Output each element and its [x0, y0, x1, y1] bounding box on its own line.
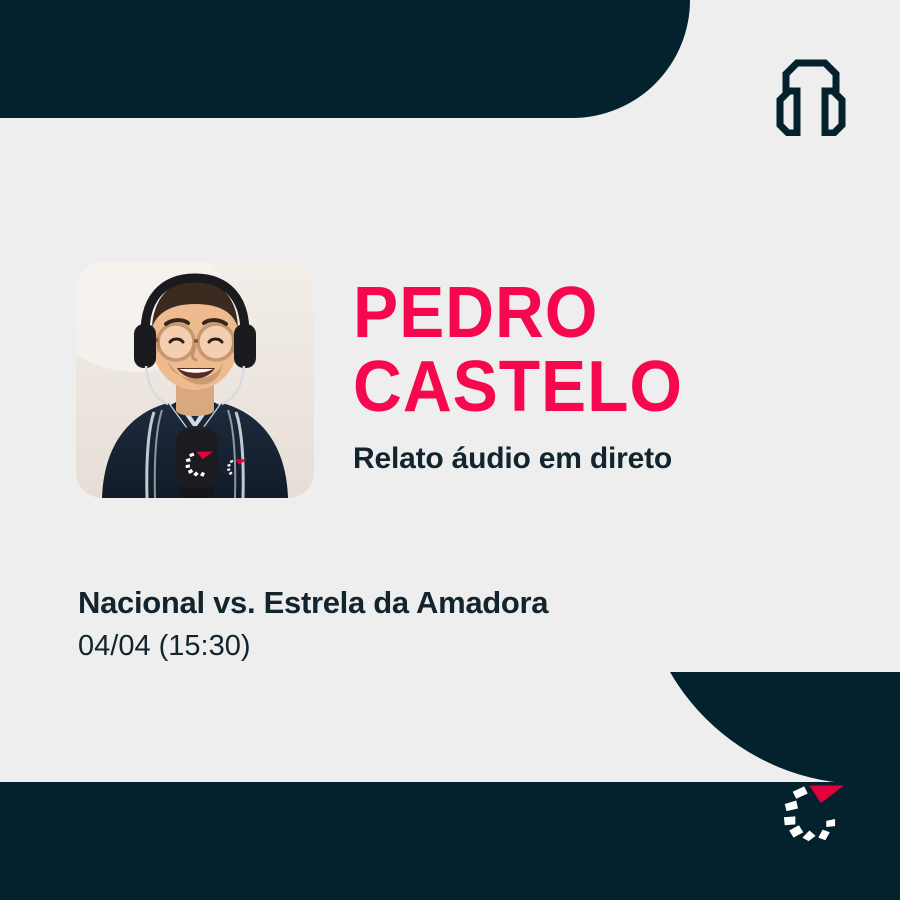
portrait-photo-commentator [76, 262, 314, 498]
match-info-block: Nacional vs. Estrela da Amadora 04/04 (1… [78, 585, 838, 663]
headphones-icon [766, 58, 856, 136]
match-title: Nacional vs. Estrela da Amadora [78, 585, 838, 621]
audio-broadcast-poster: PEDRO CASTELO Relato áudio em direto Nac… [0, 0, 900, 900]
bottom-band-curve [640, 672, 900, 784]
presenter-name-block: PEDRO CASTELO Relato áudio em direto [353, 276, 853, 476]
bottom-dark-band [0, 782, 900, 900]
top-dark-band [0, 0, 690, 118]
flashscore-logo [780, 782, 846, 842]
presenter-name-line1: PEDRO [353, 276, 823, 350]
match-datetime: 04/04 (15:30) [78, 630, 838, 663]
presenter-subtitle: Relato áudio em direto [353, 442, 853, 476]
presenter-name-line2: CASTELO [353, 350, 823, 424]
